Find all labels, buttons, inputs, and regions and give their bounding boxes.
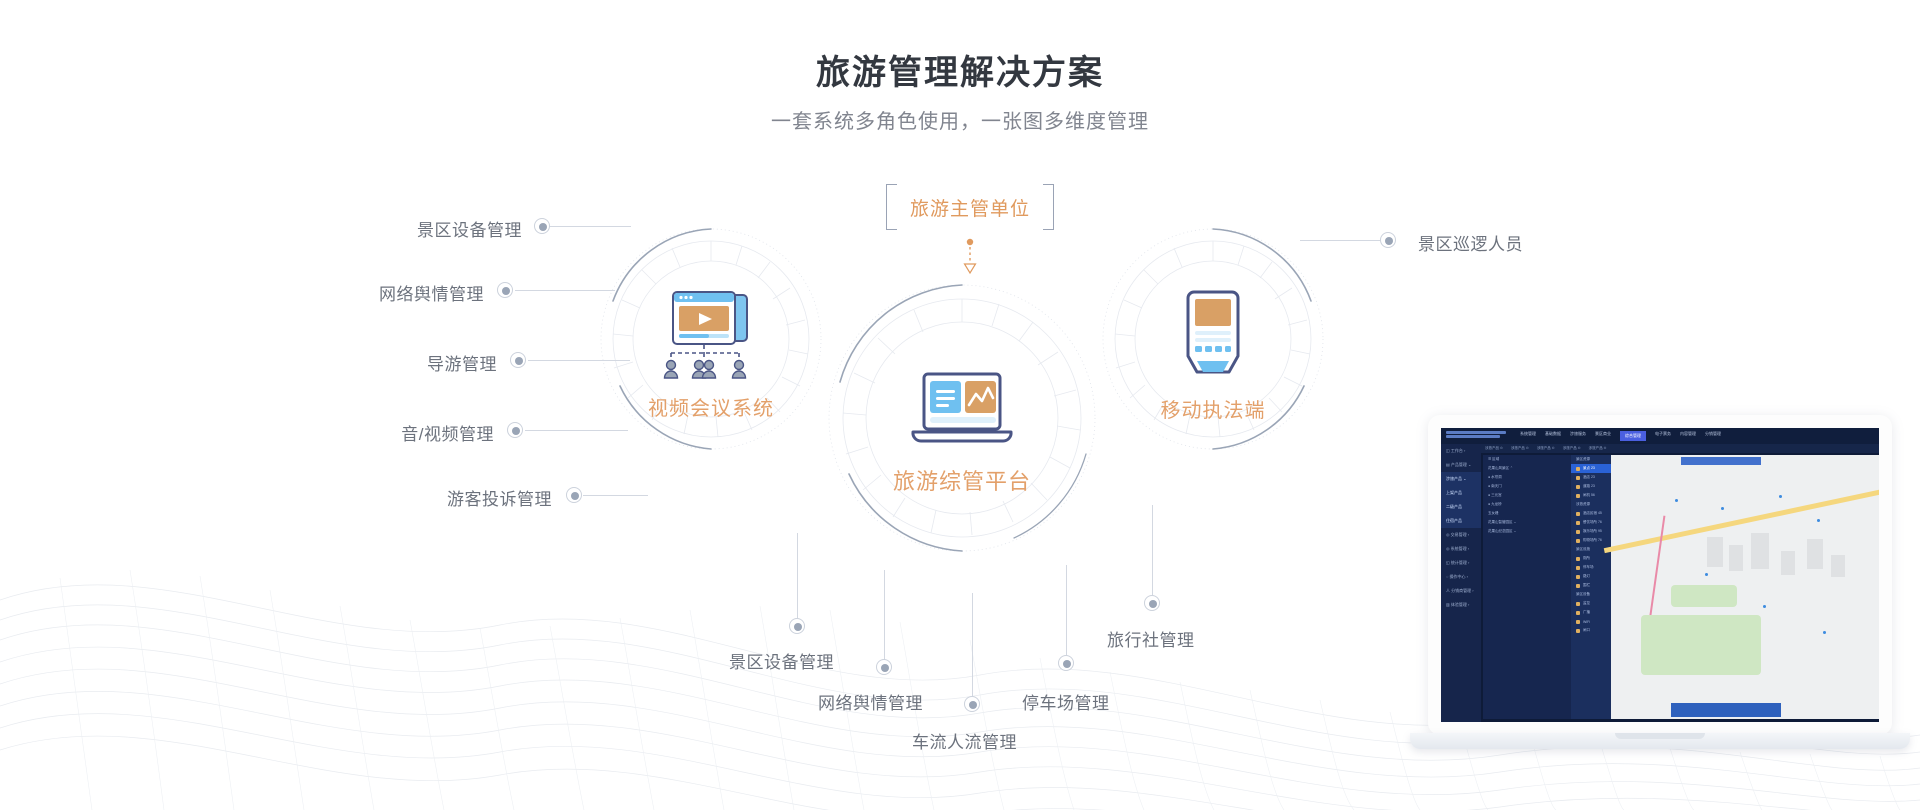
sidebar-item[interactable]: ◌ 操作中心 › xyxy=(1441,570,1481,584)
leader-line-bottom-4 xyxy=(1066,565,1067,655)
sidebar-item[interactable]: 住宿产品 xyxy=(1441,514,1481,528)
leader-line-left-3 xyxy=(528,360,630,361)
leader-line-right-1 xyxy=(1300,240,1380,241)
sidebar-item[interactable]: ◱ 统计管理 › xyxy=(1441,556,1481,570)
connector-dot-left-5 xyxy=(566,487,582,503)
side-label-bottom-4: 停车场管理 xyxy=(1022,689,1110,714)
panel-row[interactable]: ● 南天门 xyxy=(1483,482,1571,491)
leader-line-bottom-1 xyxy=(797,533,798,618)
leader-line-left-5 xyxy=(583,495,648,496)
dashboard-subnav[interactable]: 涉旅产品 ⊙ 涉旅产品 ⊙ 涉旅产品 ⊙ 涉旅产品 ⊙ 涉旅产品 ⊙ xyxy=(1481,444,1879,453)
laptop-mockup: 系统管理 基础数据 涉旅服务 景区商业 综合管理 电子票务 内容管理 分销管理 … xyxy=(1410,415,1910,775)
map-marker[interactable] xyxy=(1823,631,1826,634)
menu-item[interactable]: 分销管理 xyxy=(1705,431,1721,441)
leader-line-bottom-2 xyxy=(884,570,885,660)
sidebar-subitem[interactable]: 二级产品 xyxy=(1441,500,1481,514)
layer-row[interactable]: 酒店 23 xyxy=(1571,473,1611,482)
layer-row[interactable]: 娱乐场所 95 xyxy=(1571,527,1611,536)
dashboard-topbar: 系统管理 基础数据 涉旅服务 景区商业 综合管理 电子票务 内容管理 分销管理 xyxy=(1441,428,1879,444)
connector-dot-left-4 xyxy=(507,422,523,438)
page-subtitle: 一套系统多角色使用，一张图多维度管理 xyxy=(0,105,1920,134)
layer-group-title: 涉旅资源 xyxy=(1571,500,1611,509)
panel-row[interactable]: 花果山风景区 ⌃ xyxy=(1483,464,1571,473)
menu-item[interactable]: 内容管理 xyxy=(1680,431,1696,441)
node-mobile-enforcement: 移动执法端 xyxy=(1102,288,1324,423)
video-window-icon xyxy=(651,290,771,386)
dashboard-logo-icon xyxy=(1444,429,1510,443)
map-marker[interactable] xyxy=(1675,499,1678,502)
side-label-left-5: 游客投诉管理 xyxy=(330,485,552,510)
side-label-left-3: 导游管理 xyxy=(275,350,497,375)
layer-row[interactable]: 闸机 56 xyxy=(1571,491,1611,500)
side-label-right-1: 景区巡逻人员 xyxy=(1418,230,1523,255)
connector-dot-left-2 xyxy=(497,282,513,298)
subnav-item[interactable]: 涉旅产品 ⊙ xyxy=(1589,446,1607,451)
map-building xyxy=(1781,551,1795,575)
sidebar-item[interactable]: 人 分销商管理 › xyxy=(1441,584,1481,598)
panel-row[interactable]: ● 三元宫 xyxy=(1483,491,1571,500)
side-label-left-4: 音/视频管理 xyxy=(272,420,494,445)
subnav-item[interactable]: 涉旅产品 ⊙ xyxy=(1485,446,1503,451)
map-building xyxy=(1707,537,1723,567)
connector-dot-right-1 xyxy=(1380,232,1396,248)
sidebar-subitem[interactable]: 上架产品 xyxy=(1441,486,1481,500)
sidebar-item-selected[interactable]: 涉旅产品 ⌄ xyxy=(1441,472,1481,486)
layer-group-title: 景区资源 xyxy=(1571,455,1611,464)
map-marker[interactable] xyxy=(1705,573,1708,576)
connector-dot-bottom-1 xyxy=(789,618,805,634)
layer-row[interactable]: 停车场 xyxy=(1571,563,1611,572)
layer-row[interactable]: 闸口 xyxy=(1571,626,1611,635)
connector-dot-left-3 xyxy=(510,352,526,368)
layer-row[interactable]: 餐饮场所 76 xyxy=(1571,518,1611,527)
side-label-bottom-2: 网络舆情管理 xyxy=(818,689,923,714)
leader-line-bottom-5 xyxy=(1152,505,1153,595)
layer-row[interactable]: 厕所 xyxy=(1571,554,1611,563)
sidebar-item[interactable]: ◫ 工作台 › xyxy=(1441,444,1481,458)
map-road-main xyxy=(1604,486,1879,553)
side-label-bottom-1: 景区设备管理 xyxy=(729,648,834,673)
dashboard-region-panel[interactable]: ☰ 区域 花果山风景区 ⌃ ● 水帘洞 ● 南天门 ● 三元宫 ● 九龙桥 玉女… xyxy=(1483,455,1571,719)
laptop-notch xyxy=(1615,733,1705,739)
map-building xyxy=(1807,539,1823,569)
map-marker[interactable] xyxy=(1721,507,1724,510)
node-label-tourism-platform: 旅游综管平台 xyxy=(828,464,1096,496)
menu-item[interactable]: 涉旅服务 xyxy=(1570,431,1586,441)
leader-line-left-1 xyxy=(549,226,631,227)
map-marker[interactable] xyxy=(1763,605,1766,608)
node-video-conference: 视频会议系统 xyxy=(600,290,822,421)
dashboard-map[interactable] xyxy=(1611,455,1879,719)
node-label-mobile-enforcement: 移动执法端 xyxy=(1102,394,1324,423)
panel-row[interactable]: ● 九龙桥 xyxy=(1483,500,1571,509)
leader-line-bottom-3 xyxy=(972,593,973,696)
map-building xyxy=(1831,555,1845,577)
menu-item-active[interactable]: 综合管理 xyxy=(1620,431,1646,441)
leader-line-left-2 xyxy=(515,290,615,291)
menu-item[interactable]: 电子票务 xyxy=(1655,431,1671,441)
side-label-bottom-3: 车流人流管理 xyxy=(912,728,1017,753)
connector-dot-bottom-3 xyxy=(964,696,980,712)
layer-row[interactable]: 酒店民宿 45 xyxy=(1571,509,1611,518)
subnav-item[interactable]: 涉旅产品 ⊙ xyxy=(1537,446,1555,451)
handheld-terminal-icon xyxy=(1176,288,1250,388)
side-label-left-2: 网络舆情管理 xyxy=(262,280,484,305)
panel-row[interactable]: 花果山智管园区 ⌄ xyxy=(1483,518,1571,527)
sidebar-item[interactable]: ▥ 体验管理 › xyxy=(1441,598,1481,612)
map-marker[interactable] xyxy=(1817,519,1820,522)
map-building xyxy=(1729,545,1743,571)
map-bottom-toolbar[interactable] xyxy=(1671,703,1781,717)
layer-row[interactable]: 道路 23 xyxy=(1571,482,1611,491)
map-building xyxy=(1751,533,1769,569)
layer-row[interactable]: 围栏 xyxy=(1571,581,1611,590)
connector-dot-bottom-4 xyxy=(1058,655,1074,671)
panel-row[interactable]: 玉女峰 xyxy=(1483,509,1571,518)
node-tourism-platform: 旅游综管平台 xyxy=(828,370,1096,496)
map-marker[interactable] xyxy=(1779,495,1782,498)
authority-connector-arrow xyxy=(963,238,977,278)
layer-group-title: 景区设备 xyxy=(1571,590,1611,599)
menu-item[interactable]: 景区商业 xyxy=(1595,431,1611,441)
node-label-video-conference: 视频会议系统 xyxy=(600,392,822,421)
map-toolbar[interactable] xyxy=(1681,457,1761,465)
laptop-body: 系统管理 基础数据 涉旅服务 景区商业 综合管理 电子票务 内容管理 分销管理 … xyxy=(1428,415,1892,735)
sidebar-item[interactable]: ▤ 产品管理 ⌄ xyxy=(1441,458,1481,472)
map-park-area xyxy=(1671,585,1737,607)
layer-row[interactable]: 路灯 xyxy=(1571,572,1611,581)
connector-dot-left-1 xyxy=(534,218,550,234)
dashboard-layer-panel[interactable]: 景区资源 景点 23 酒店 23 道路 23 闸机 56 涉旅资源 酒店民宿 4… xyxy=(1571,455,1611,719)
menu-item[interactable]: 系统管理 xyxy=(1520,431,1536,441)
subnav-item[interactable]: 涉旅产品 ⊙ xyxy=(1511,446,1529,451)
authority-box-label: 旅游主管单位 xyxy=(910,194,1030,221)
connector-dot-bottom-5 xyxy=(1144,595,1160,611)
menu-item[interactable]: 基础数据 xyxy=(1545,431,1561,441)
layer-row[interactable]: WiFi xyxy=(1571,617,1611,626)
laptop-screen: 系统管理 基础数据 涉旅服务 景区商业 综合管理 电子票务 内容管理 分销管理 … xyxy=(1441,428,1879,722)
side-label-bottom-5: 旅行社管理 xyxy=(1107,626,1195,651)
panel-header: ☰ 区域 xyxy=(1483,455,1571,464)
leader-line-left-4 xyxy=(525,430,628,431)
panel-row[interactable]: 花果山纪念园区 ⌄ xyxy=(1483,527,1571,536)
solution-diagram-page: 旅游管理解决方案 一套系统多角色使用，一张图多维度管理 旅游主管单位 xyxy=(0,0,1920,810)
layer-row-selected[interactable]: 景点 23 xyxy=(1571,464,1611,473)
layer-row[interactable]: 购物场所 76 xyxy=(1571,536,1611,545)
panel-row[interactable]: ● 水帘洞 xyxy=(1483,473,1571,482)
page-title: 旅游管理解决方案 xyxy=(0,45,1920,94)
connector-dot-bottom-2 xyxy=(876,659,892,675)
map-park-area xyxy=(1641,615,1761,675)
side-label-left-1: 景区设备管理 xyxy=(300,216,522,241)
layer-row[interactable]: 监控 xyxy=(1571,599,1611,608)
layer-row[interactable]: 广播 xyxy=(1571,608,1611,617)
dashboard-sidebar[interactable]: ◫ 工作台 › ▤ 产品管理 ⌄ 涉旅产品 ⌄ 上架产品 二级产品 住宿产品 ◎… xyxy=(1441,444,1481,722)
sidebar-item[interactable]: ◎ 交易管理 › xyxy=(1441,528,1481,542)
sidebar-item[interactable]: ◎ 系统管理 › xyxy=(1441,542,1481,556)
authority-box: 旅游主管单位 xyxy=(886,184,1054,230)
laptop-dashboard-icon xyxy=(897,370,1027,458)
dashboard-menu[interactable]: 系统管理 基础数据 涉旅服务 景区商业 综合管理 电子票务 内容管理 分销管理 xyxy=(1520,431,1721,441)
subnav-item[interactable]: 涉旅产品 ⊙ xyxy=(1563,446,1581,451)
